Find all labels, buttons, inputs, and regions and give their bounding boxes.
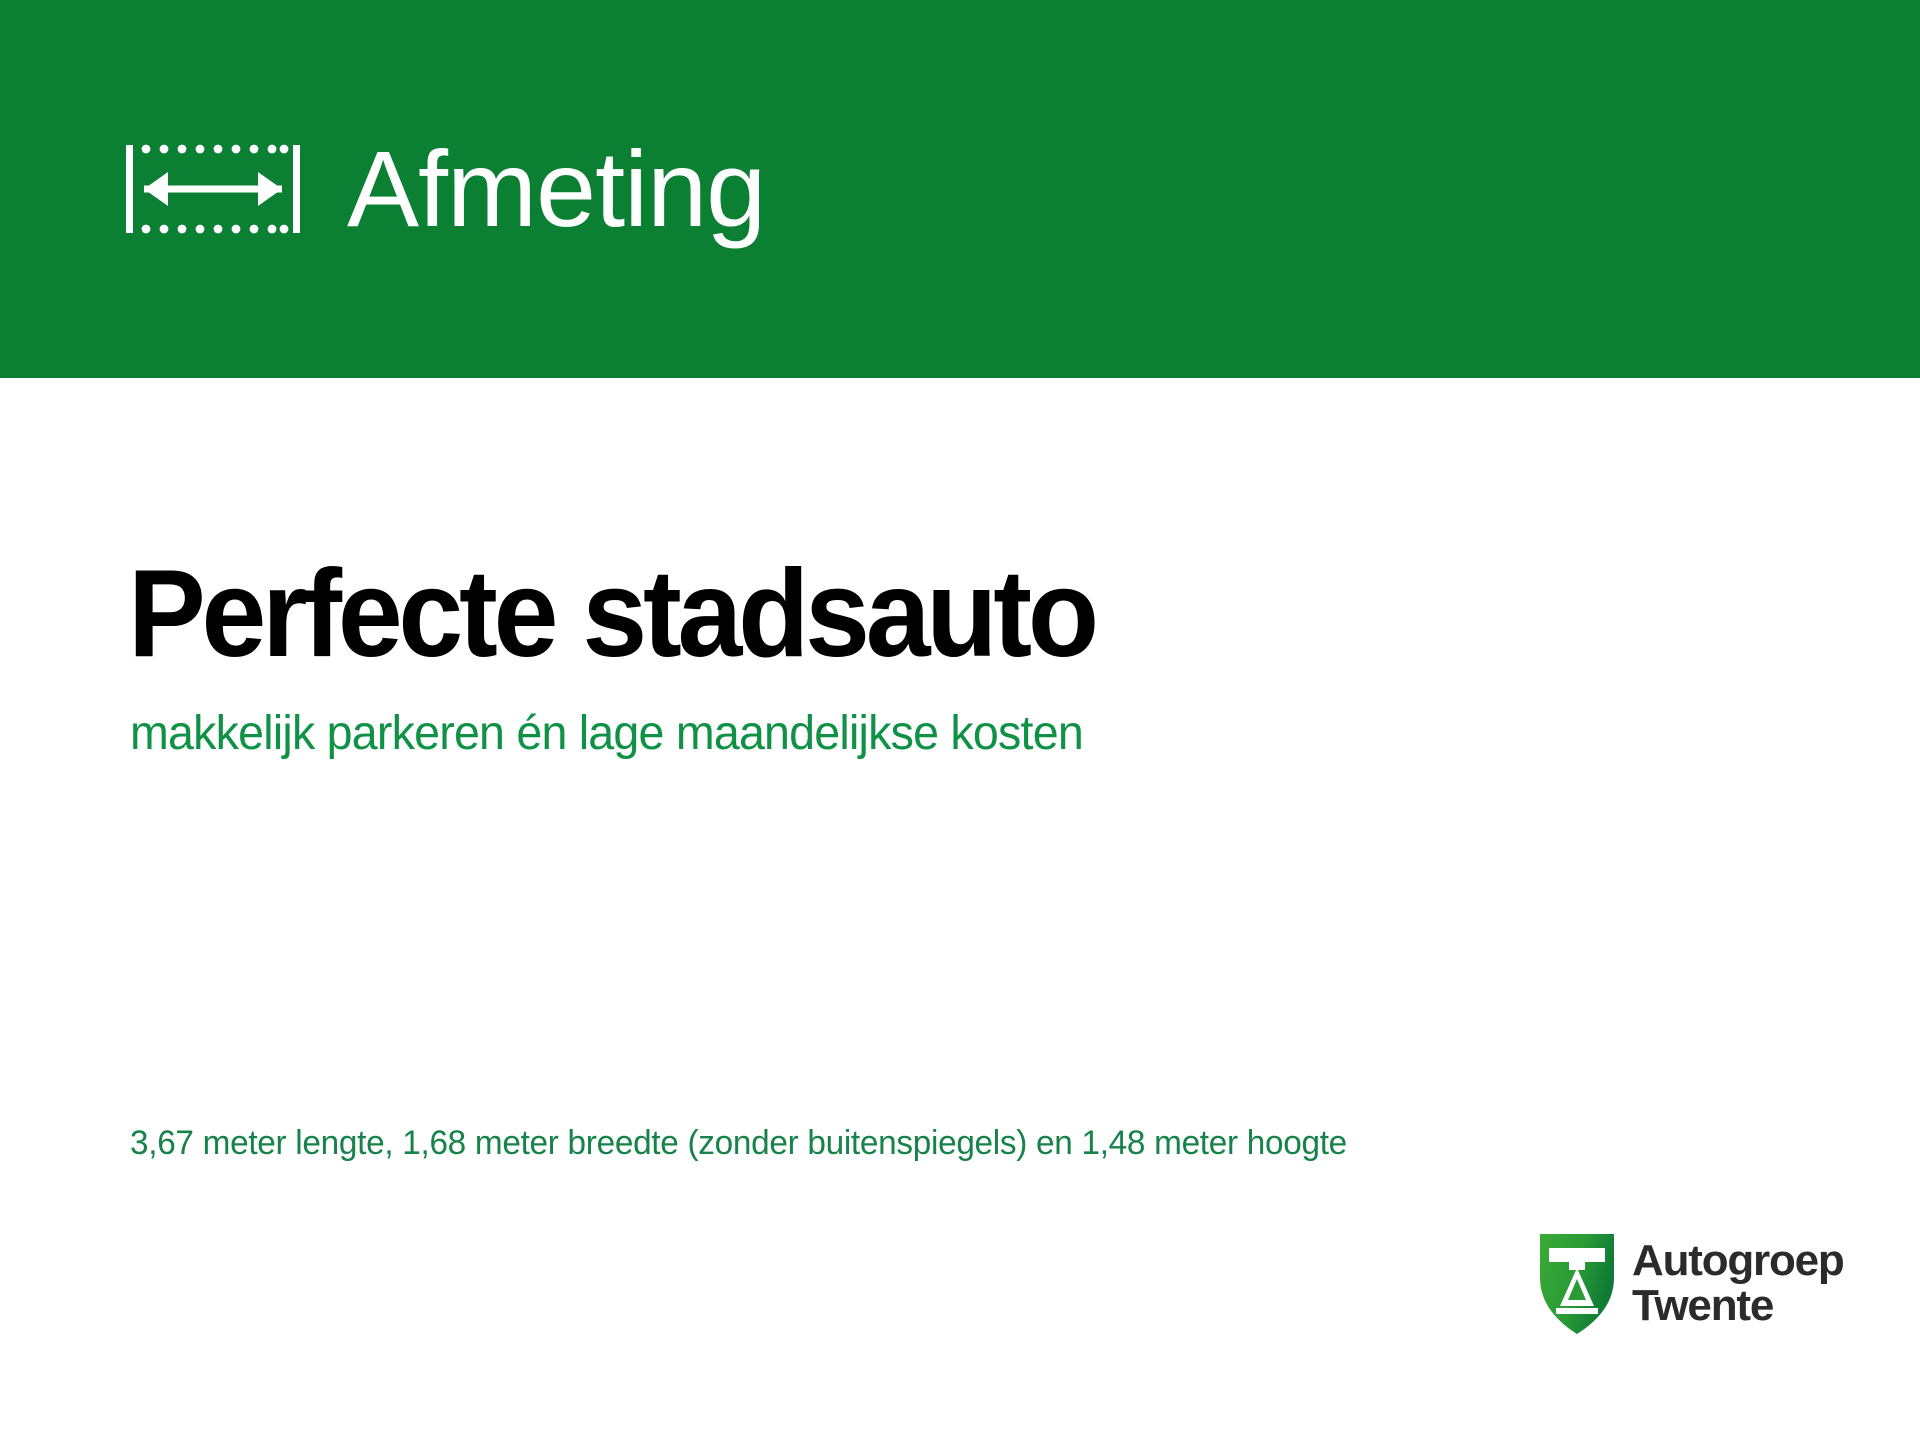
width-dimension-arrow-icon (124, 141, 302, 237)
header-title: Afmeting (347, 135, 765, 243)
autogroep-twente-shield-a-icon (1538, 1232, 1616, 1336)
page-subtitle: makkelijk parkeren én lage maandelijkse … (130, 710, 1083, 758)
brand-wordmark: Autogroep Twente (1632, 1239, 1844, 1329)
brand-logo: Autogroep Twente (1538, 1232, 1844, 1336)
brand-wordmark-line2: Twente (1632, 1284, 1844, 1329)
header-band: Afmeting (0, 0, 1920, 378)
slide-canvas: Afmeting Perfecte stadsauto makkelijk pa… (0, 0, 1920, 1440)
page-title: Perfecte stadsauto (128, 552, 1095, 676)
dimensions-caption: 3,67 meter lengte, 1,68 meter breedte (z… (130, 1126, 1347, 1160)
brand-wordmark-line1: Autogroep (1632, 1239, 1844, 1284)
